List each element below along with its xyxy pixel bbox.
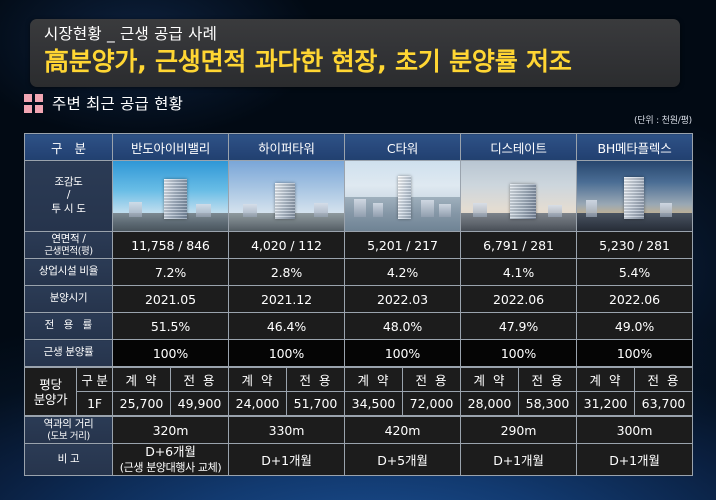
cell-neighborhood-sales-rate-3: 100% xyxy=(345,340,461,367)
price-col-exclusive-1: 전 용 xyxy=(171,368,229,392)
cell-remarks-4: D+1개월 xyxy=(461,444,577,476)
grid-bullet-icon xyxy=(24,94,43,113)
cell-remarks-1-main: D+6개월 xyxy=(113,444,228,459)
table-row-gross-floor-area: 연면적 / 근생면적(평) 11,758 / 846 4,020 / 112 5… xyxy=(25,232,693,259)
cell-station-distance-2: 330m xyxy=(229,417,345,444)
cell-exclusive-rate-1: 51.5% xyxy=(113,313,229,340)
cell-exclusive-rate-4: 47.9% xyxy=(461,313,577,340)
price-contract-2: 24,000 xyxy=(229,392,287,416)
row-label-rendering: 조감도 / 투 시 도 xyxy=(25,161,113,232)
cell-neighborhood-sales-rate-2: 100% xyxy=(229,340,345,367)
table-row-renderings: 조감도 / 투 시 도 xyxy=(25,161,693,232)
rendering-image-bando-ivy-valley xyxy=(113,161,229,232)
row-label-gross-floor-area: 연면적 / 근생면적(평) xyxy=(25,232,113,259)
cell-remarks-5: D+1개월 xyxy=(577,444,693,476)
price-col-contract-5: 계 약 xyxy=(577,368,635,392)
rendering-label-line2: 투 시 도 xyxy=(25,203,112,216)
cell-commercial-ratio-3: 4.2% xyxy=(345,259,461,286)
price-sub-header-label: 구 분 xyxy=(77,368,113,392)
table-row-neighborhood-sales-rate: 근생 분양률 100% 100% 100% 100% 100% xyxy=(25,340,693,367)
column-header-bando-ivy-valley: 반도아이비밸리 xyxy=(113,134,229,161)
cell-sales-period-2: 2021.12 xyxy=(229,286,345,313)
price-block-label-line2: 분양가 xyxy=(26,392,75,407)
price-contract-3: 34,500 xyxy=(345,392,403,416)
cell-commercial-ratio-1: 7.2% xyxy=(113,259,229,286)
price-contract-5: 31,200 xyxy=(577,392,635,416)
cell-station-distance-3: 420m xyxy=(345,417,461,444)
price-col-contract-2: 계 약 xyxy=(229,368,287,392)
price-row-label-1f: 1F xyxy=(77,392,113,416)
cell-station-distance-1: 320m xyxy=(113,417,229,444)
slide-title: 高분양가, 근생면적 과다한 현장, 초기 분양률 저조 xyxy=(44,46,680,77)
rendering-label-line1: 조감도 xyxy=(25,176,112,189)
row-label-station-distance-line2: (도보 거리) xyxy=(25,431,112,443)
price-col-exclusive-3: 전 용 xyxy=(403,368,461,392)
table-row-remarks: 비 고 D+6개월 (근생 분양대행사 교체) D+1개월 D+5개월 D+1개… xyxy=(25,444,693,476)
price-contract-4: 28,000 xyxy=(461,392,519,416)
column-header-category: 구 분 xyxy=(25,134,113,161)
table-row-exclusive-rate: 전 용 률 51.5% 46.4% 48.0% 47.9% 49.0% xyxy=(25,313,693,340)
cell-neighborhood-sales-rate-4: 100% xyxy=(461,340,577,367)
price-block-label-line1: 평당 xyxy=(26,377,75,392)
cell-remarks-3: D+5개월 xyxy=(345,444,461,476)
rendering-image-hyper-tower xyxy=(229,161,345,232)
cell-commercial-ratio-2: 2.8% xyxy=(229,259,345,286)
cell-gross-floor-area-5: 5,230 / 281 xyxy=(577,232,693,259)
row-label-commercial-ratio: 상업시설 비율 xyxy=(25,259,113,286)
cell-exclusive-rate-2: 46.4% xyxy=(229,313,345,340)
rendering-image-the-state xyxy=(461,161,577,232)
cell-remarks-1-sub: (근생 분양대행사 교체) xyxy=(113,459,228,475)
rendering-image-c-tower xyxy=(345,161,461,232)
price-per-pyeong-block: 평당 분양가 구 분 계 약 전 용 계 약 전 용 계 약 전 용 계 약 전… xyxy=(24,367,693,416)
price-col-contract-4: 계 약 xyxy=(461,368,519,392)
price-exclusive-3: 72,000 xyxy=(403,392,461,416)
rendering-label-separator: / xyxy=(25,189,112,202)
cell-sales-period-5: 2022.06 xyxy=(577,286,693,313)
price-value-row-1f: 1F 25,700 49,900 24,000 51,700 34,500 72… xyxy=(25,392,693,416)
row-label-exclusive-rate: 전 용 률 xyxy=(25,313,113,340)
price-exclusive-2: 51,700 xyxy=(287,392,345,416)
table-row-commercial-ratio: 상업시설 비율 7.2% 2.8% 4.2% 4.1% 5.4% xyxy=(25,259,693,286)
cell-remarks-1: D+6개월 (근생 분양대행사 교체) xyxy=(113,444,229,476)
table-header-row: 구 분 반도아이비밸리 하이퍼타워 C타워 디스테이트 BH메타플렉스 xyxy=(25,134,693,161)
row-label-station-distance: 역과의 거리 (도보 거리) xyxy=(25,417,113,444)
column-header-c-tower: C타워 xyxy=(345,134,461,161)
price-block-label: 평당 분양가 xyxy=(25,368,77,416)
cell-sales-period-4: 2022.06 xyxy=(461,286,577,313)
price-col-contract-1: 계 약 xyxy=(113,368,171,392)
row-label-sales-period: 분양시기 xyxy=(25,286,113,313)
cell-commercial-ratio-4: 4.1% xyxy=(461,259,577,286)
cell-gross-floor-area-3: 5,201 / 217 xyxy=(345,232,461,259)
price-contract-1: 25,700 xyxy=(113,392,171,416)
price-col-exclusive-5: 전 용 xyxy=(635,368,693,392)
rendering-image-bh-metaplex xyxy=(577,161,693,232)
unit-note: (단위 : 천원/평) xyxy=(634,113,692,126)
cell-neighborhood-sales-rate-1: 100% xyxy=(113,340,229,367)
cell-gross-floor-area-1: 11,758 / 846 xyxy=(113,232,229,259)
column-header-hyper-tower: 하이퍼타워 xyxy=(229,134,345,161)
table-row-station-distance: 역과의 거리 (도보 거리) 320m 330m 420m 290m 300m xyxy=(25,417,693,444)
cell-sales-period-3: 2022.03 xyxy=(345,286,461,313)
cell-gross-floor-area-4: 6,791 / 281 xyxy=(461,232,577,259)
cell-exclusive-rate-3: 48.0% xyxy=(345,313,461,340)
supply-comparison-table: 구 분 반도아이비밸리 하이퍼타워 C타워 디스테이트 BH메타플렉스 조감도 … xyxy=(24,133,692,476)
cell-station-distance-5: 300m xyxy=(577,417,693,444)
row-label-gross-floor-area-line2: 근생면적(평) xyxy=(25,246,112,258)
cell-gross-floor-area-2: 4,020 / 112 xyxy=(229,232,345,259)
row-label-gross-floor-area-line1: 연면적 / xyxy=(51,233,85,245)
price-col-exclusive-4: 전 용 xyxy=(519,368,577,392)
price-col-contract-3: 계 약 xyxy=(345,368,403,392)
cell-commercial-ratio-5: 5.4% xyxy=(577,259,693,286)
cell-sales-period-1: 2021.05 xyxy=(113,286,229,313)
column-header-bh-metaplex: BH메타플렉스 xyxy=(577,134,693,161)
row-label-station-distance-line1: 역과의 거리 xyxy=(44,418,94,430)
table-row-sales-period: 분양시기 2021.05 2021.12 2022.03 2022.06 202… xyxy=(25,286,693,313)
section-heading-label: 주변 최근 공급 현황 xyxy=(52,92,183,114)
price-exclusive-5: 63,700 xyxy=(635,392,693,416)
column-header-the-state: 디스테이트 xyxy=(461,134,577,161)
row-label-remarks: 비 고 xyxy=(25,444,113,476)
slide-subtitle: 시장현황 _ 근생 공급 사례 xyxy=(44,24,680,45)
price-col-exclusive-2: 전 용 xyxy=(287,368,345,392)
slide: 시장현황 _ 근생 공급 사례 高분양가, 근생면적 과다한 현장, 초기 분양… xyxy=(0,0,716,500)
cell-remarks-2: D+1개월 xyxy=(229,444,345,476)
section-heading: 주변 최근 공급 현황 xyxy=(24,92,183,114)
cell-neighborhood-sales-rate-5: 100% xyxy=(577,340,693,367)
cell-station-distance-4: 290m xyxy=(461,417,577,444)
price-header-row: 평당 분양가 구 분 계 약 전 용 계 약 전 용 계 약 전 용 계 약 전… xyxy=(25,368,693,392)
price-exclusive-1: 49,900 xyxy=(171,392,229,416)
cell-exclusive-rate-5: 49.0% xyxy=(577,313,693,340)
price-exclusive-4: 58,300 xyxy=(519,392,577,416)
row-label-neighborhood-sales-rate: 근생 분양률 xyxy=(25,340,113,367)
title-banner: 시장현황 _ 근생 공급 사례 高분양가, 근생면적 과다한 현장, 초기 분양… xyxy=(30,19,680,87)
